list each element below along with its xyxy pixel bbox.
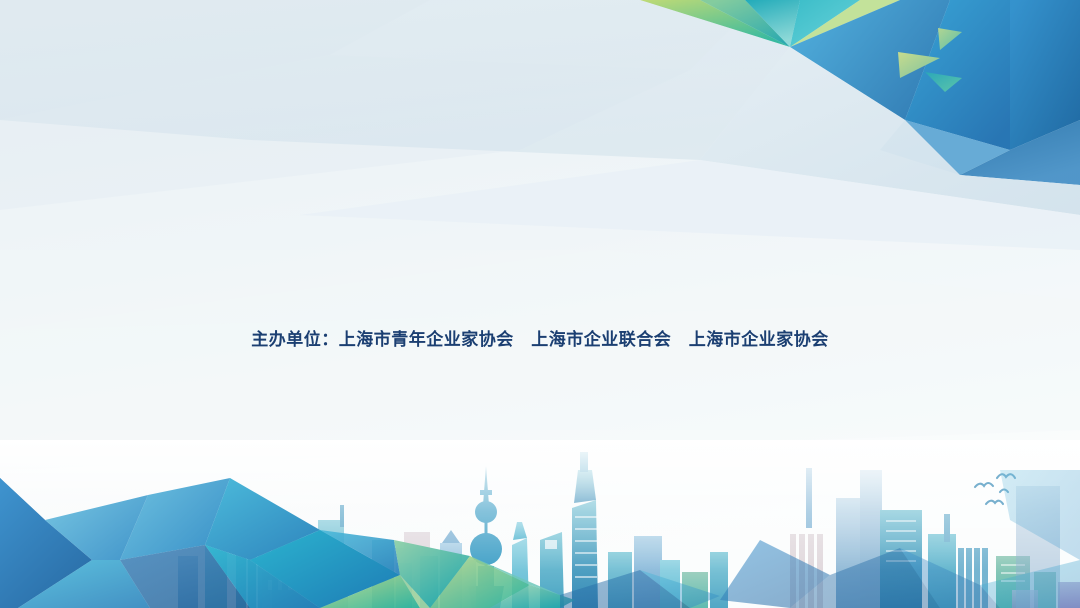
poster-text-layer: 2018年上海市优秀青年企业家评选终审会 主办单位：上海市青年企业家协会 上海市… — [0, 0, 1080, 608]
organizers-subtitle: 主办单位：上海市青年企业家协会 上海市企业联合会 上海市企业家协会 — [0, 325, 1080, 350]
poster-canvas: 2018年上海市优秀青年企业家评选终审会 主办单位：上海市青年企业家协会 上海市… — [0, 0, 1080, 608]
page-title: 2018年上海市优秀青年企业家评选终审会 — [0, 186, 1080, 248]
